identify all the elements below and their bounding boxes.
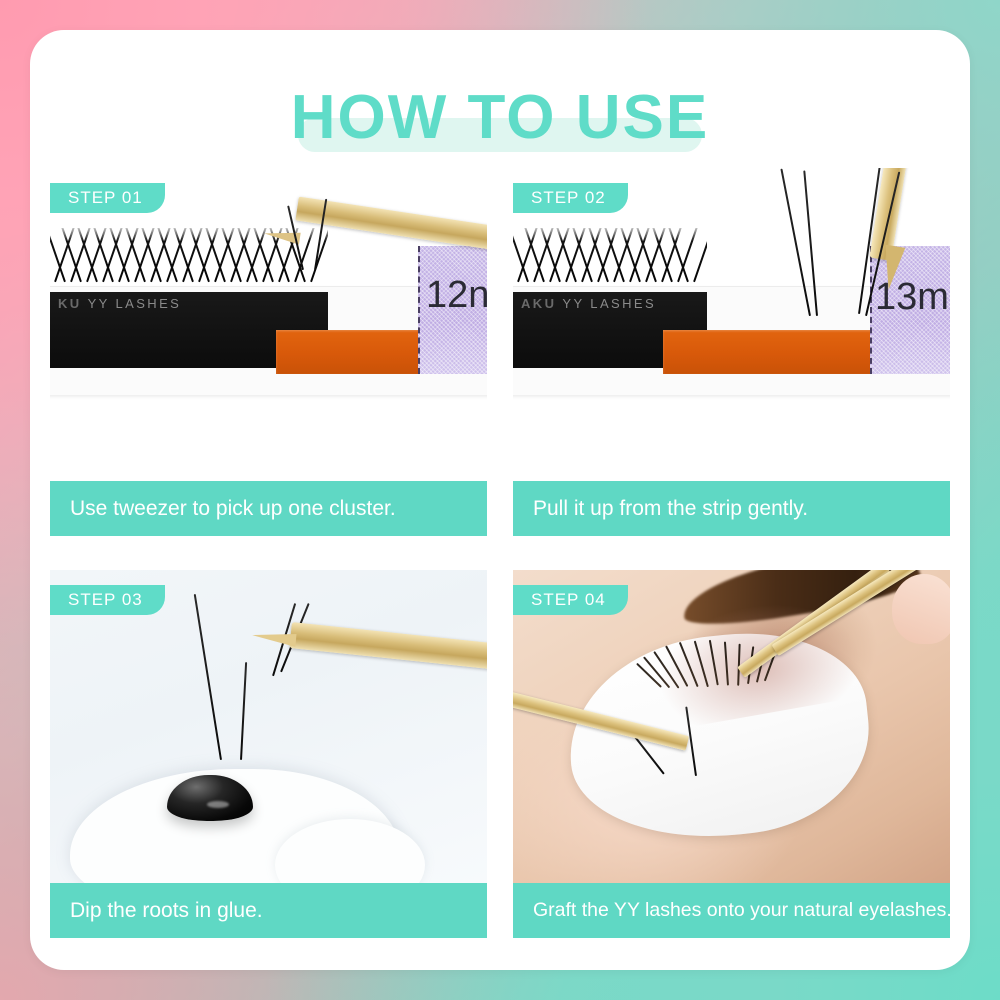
step-4-photo: STEP 04	[513, 570, 950, 883]
step-1-photo: 12n KU YY LASHES STEP 01	[50, 168, 487, 481]
size-label-text: 12n	[426, 276, 487, 314]
step-card-1[interactable]: 12n KU YY LASHES STEP 01 Us	[50, 168, 487, 536]
step-caption-4: Graft the YY lashes onto your natural ey…	[513, 883, 950, 938]
brand-rest-2: YY LASHES	[562, 296, 656, 311]
step-badge-1: STEP 01	[50, 183, 165, 213]
lash-tray-scene-2: 13mr AKU YY LASHES	[513, 168, 950, 481]
step-caption-1: Use tweezer to pick up one cluster.	[50, 481, 487, 536]
title-text: HOW TO USE	[30, 76, 970, 160]
lash-tray-scene: 12n KU YY LASHES	[50, 168, 487, 481]
brand-bold-2: AKU	[521, 296, 556, 311]
orange-band-2	[663, 330, 878, 374]
brand-rest: YY LASHES	[88, 296, 182, 311]
step-card-2[interactable]: 13mr AKU YY LASHES	[513, 168, 950, 536]
step-2-photo: 13mr AKU YY LASHES	[513, 168, 950, 481]
steps-grid: 12n KU YY LASHES STEP 01 Us	[50, 168, 950, 938]
infographic-page: HOW TO USE	[0, 0, 1000, 1000]
step-caption-3: Dip the roots in glue.	[50, 883, 487, 938]
fingertip	[892, 574, 950, 644]
step-3-photo: STEP 03	[50, 570, 487, 883]
step-caption-2: Pull it up from the strip gently.	[513, 481, 950, 536]
step-badge-2: STEP 02	[513, 183, 628, 213]
brand-text: KU YY LASHES	[58, 296, 181, 311]
white-content-card: HOW TO USE	[30, 30, 970, 970]
brand-text-2: AKU YY LASHES	[521, 296, 656, 311]
orange-band	[276, 330, 426, 374]
page-title: HOW TO USE	[30, 76, 970, 160]
step-badge-4: STEP 04	[513, 585, 628, 615]
brand-bold: KU	[58, 296, 82, 311]
step-badge-3: STEP 03	[50, 585, 165, 615]
step-card-3[interactable]: STEP 03 Dip the roots in glue.	[50, 570, 487, 938]
step-card-4[interactable]: STEP 04 Graft the YY lashes onto your na…	[513, 570, 950, 938]
